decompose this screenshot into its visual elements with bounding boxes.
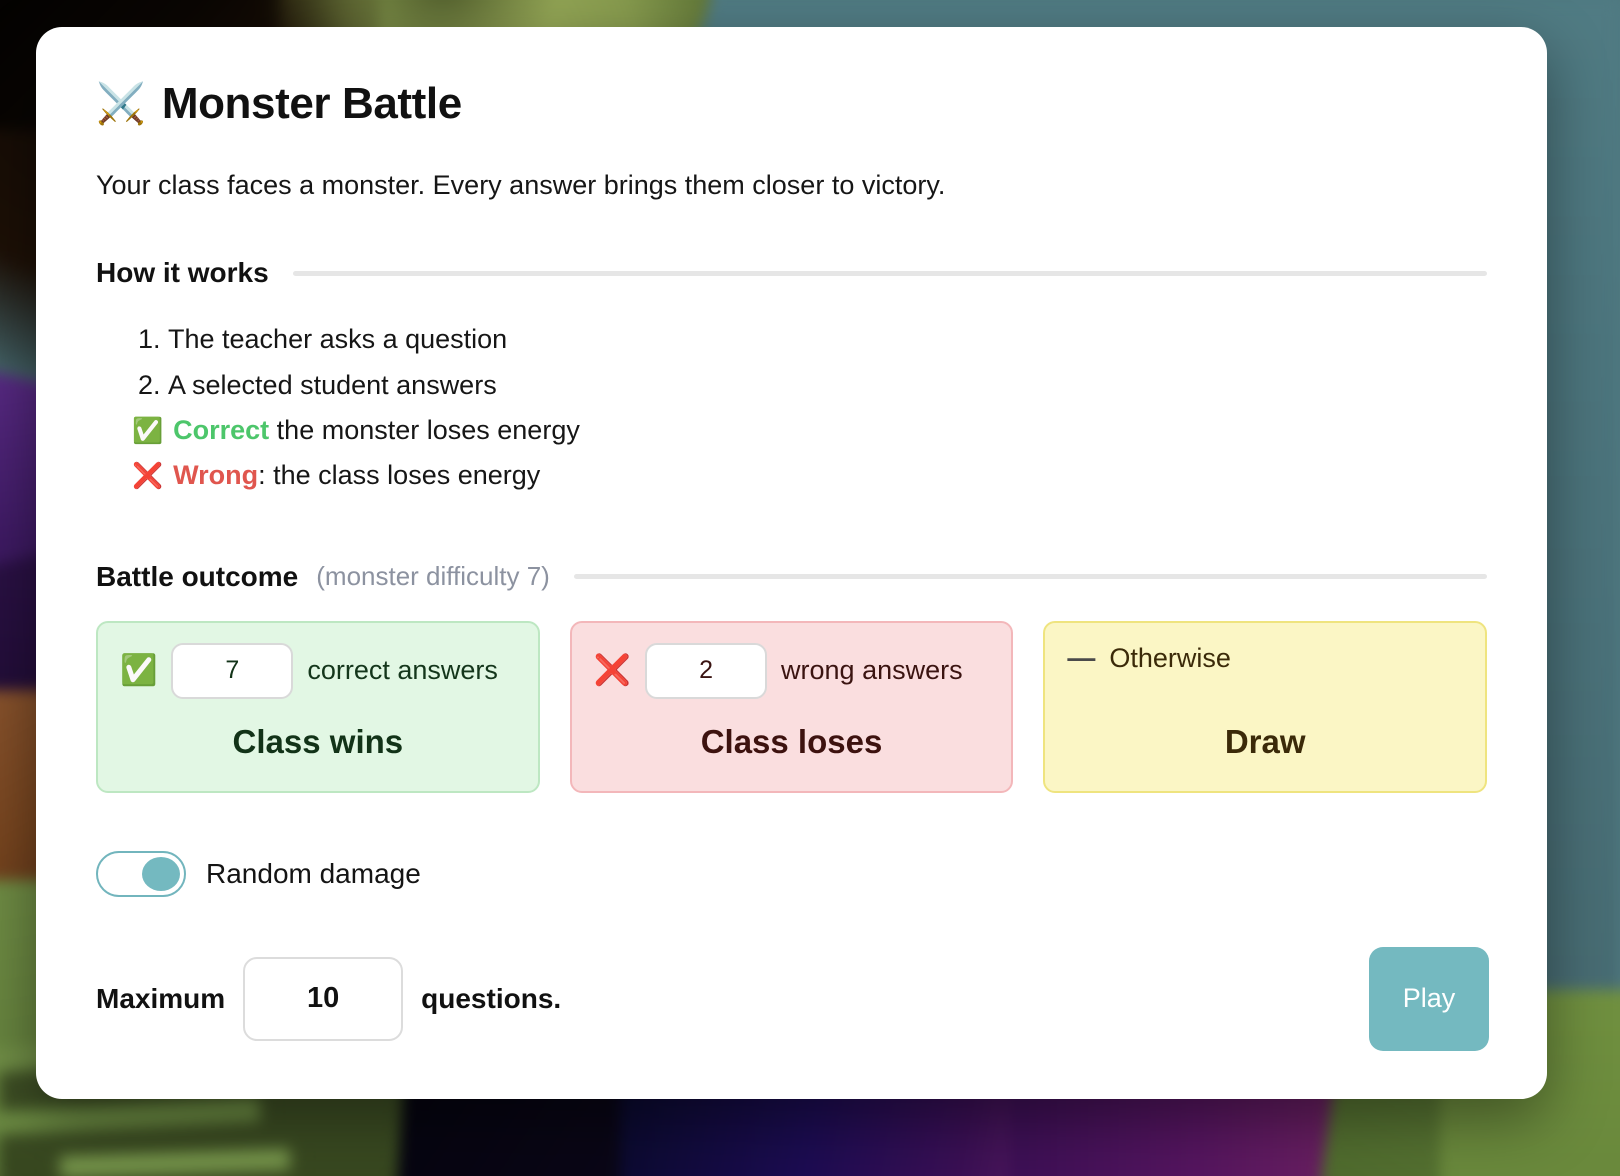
questions-label: questions. — [421, 983, 561, 1015]
outcome-result-win: Class wins — [120, 723, 516, 765]
outcome-card-draw-condition: — Otherwise — [1067, 643, 1463, 674]
outcome-card-win: ✅ correct answers Class wins — [96, 621, 540, 793]
correct-description: the monster loses energy — [269, 415, 580, 445]
correct-keyword: Correct — [173, 415, 269, 445]
how-it-works-steps: The teacher asks a question A selected s… — [168, 317, 1487, 408]
outcome-card-win-condition: ✅ correct answers — [120, 643, 516, 699]
page-title: Monster Battle — [162, 79, 462, 129]
max-questions-input[interactable] — [243, 957, 403, 1041]
dialog-header: ⚔️ Monster Battle — [96, 79, 1487, 129]
outcome-result-lose: Class loses — [594, 723, 990, 765]
battle-outcome-header: Battle outcome (monster difficulty 7) — [96, 561, 1487, 593]
outcome-card-lose: ❌ wrong answers Class loses — [570, 621, 1014, 793]
wrong-description: : the class loses energy — [258, 460, 540, 490]
correct-outcome-line: ✅ Correct the monster loses energy — [132, 408, 1487, 453]
cross-icon: ❌ — [594, 656, 631, 686]
outcome-cards: ✅ correct answers Class wins ❌ wrong ans… — [96, 621, 1487, 793]
check-icon: ✅ — [132, 419, 163, 444]
toggle-knob — [142, 857, 180, 891]
correct-answers-input[interactable] — [171, 643, 293, 699]
otherwise-label: Otherwise — [1109, 643, 1231, 674]
monster-difficulty-label: (monster difficulty 7) — [316, 561, 550, 592]
random-damage-row: Random damage — [96, 851, 1487, 897]
random-damage-toggle[interactable] — [96, 851, 186, 897]
intro-description: Your class faces a monster. Every answer… — [96, 169, 1487, 201]
outcome-card-lose-condition: ❌ wrong answers — [594, 643, 990, 699]
wrong-answers-input[interactable] — [645, 643, 767, 699]
section-divider — [293, 271, 1487, 276]
maximum-label: Maximum — [96, 983, 225, 1015]
list-item: The teacher asks a question — [168, 317, 1487, 362]
wrong-answers-label: wrong answers — [781, 655, 963, 686]
outcome-result-draw: Draw — [1067, 723, 1463, 765]
check-icon: ✅ — [120, 656, 157, 686]
battle-outcome-title: Battle outcome — [96, 561, 298, 593]
wrong-outcome-line: ❌ Wrong: the class loses energy — [132, 453, 1487, 498]
wrong-keyword: Wrong — [173, 460, 258, 490]
play-button[interactable]: Play — [1369, 947, 1489, 1051]
how-it-works-title: How it works — [96, 257, 269, 289]
correct-answers-label: correct answers — [307, 655, 498, 686]
list-item: A selected student answers — [168, 363, 1487, 408]
outcome-card-draw: — Otherwise Draw — [1043, 621, 1487, 793]
random-damage-label: Random damage — [206, 858, 421, 890]
max-questions-row: Maximum questions. Play — [96, 947, 1487, 1051]
cross-icon: ❌ — [132, 464, 163, 489]
dash-icon: — — [1067, 644, 1095, 672]
how-it-works-header: How it works — [96, 257, 1487, 289]
how-it-works-section: How it works The teacher asks a question… — [96, 257, 1487, 498]
crossed-swords-icon: ⚔️ — [96, 84, 146, 124]
monster-battle-dialog: ⚔️ Monster Battle Your class faces a mon… — [36, 27, 1547, 1099]
section-divider — [574, 574, 1487, 579]
